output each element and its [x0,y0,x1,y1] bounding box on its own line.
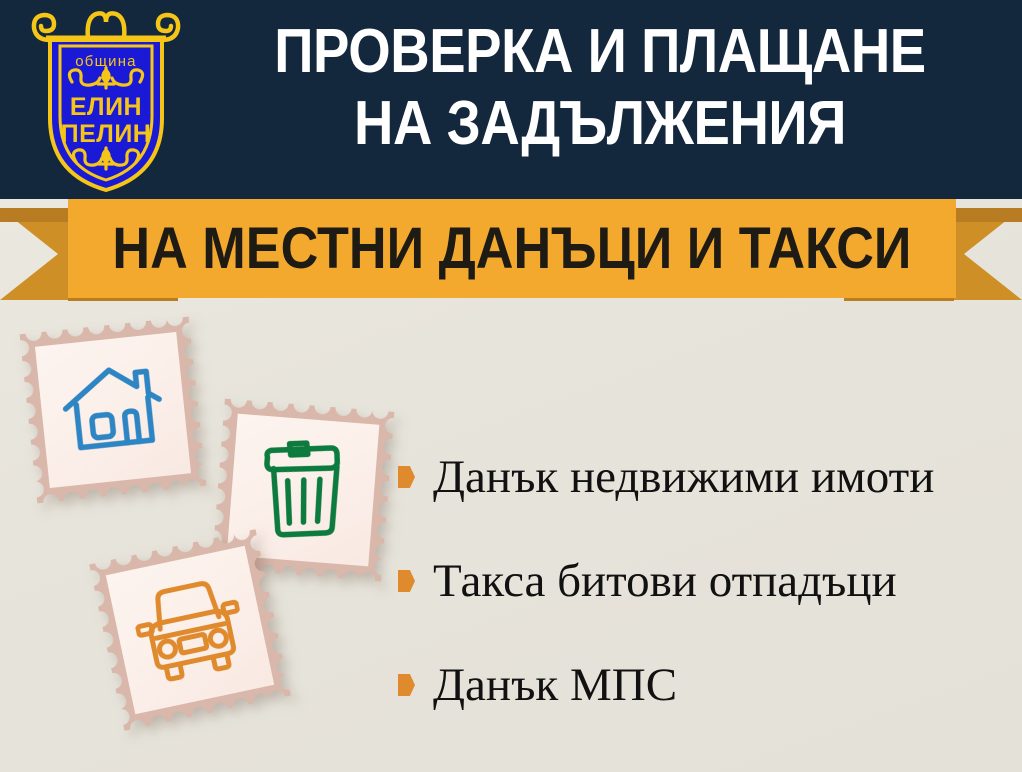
svg-text:ПЕЛИН: ПЕЛИН [61,120,152,148]
svg-text:ЕЛИН: ЕЛИН [70,93,142,121]
ribbon-fold-right [952,208,1022,222]
arrow-bullet-icon [398,674,415,696]
header-banner: община ЕЛИН ПЕЛИН [0,0,1022,199]
list-item-label: Данък МПС [433,659,677,711]
car-icon [128,573,251,687]
arrow-bullet-icon [398,570,415,592]
municipality-logo: община ЕЛИН ПЕЛИН [26,6,186,194]
list-item[interactable]: Данък МПС [398,633,1010,737]
stamp-paper [35,332,191,488]
house-icon [56,359,169,461]
tax-type-list: Данък недвижими имоти Такса битови отпад… [398,425,1010,737]
list-item-label: Такса битови отпадъци [433,555,897,607]
ribbon-subtitle: НА МЕСТНИ ДАНЪЦИ И ТАКСИ [112,219,911,279]
arrow-bullet-icon [398,466,415,488]
crest-icon: община ЕЛИН ПЕЛИН [26,6,186,194]
poster-canvas: община ЕЛИН ПЕЛИН [0,0,1022,772]
list-item[interactable]: Такса битови отпадъци [398,529,1010,633]
ribbon-main-panel: НА МЕСТНИ ДАНЪЦИ И ТАКСИ [68,199,956,298]
trash-bin-icon [255,437,351,544]
page-title: ПРОВЕРКА И ПЛАЩАНЕ НА ЗАДЪЛЖЕНИЯ [239,16,961,160]
stamp-real-estate [9,306,218,515]
list-item[interactable]: Данък недвижими имоти [398,425,1010,529]
ribbon-fold-left [0,208,70,222]
stamp-paper [106,546,274,714]
subtitle-ribbon: НА МЕСТНИ ДАНЪЦИ И ТАКСИ [0,199,1022,309]
list-item-label: Данък недвижими имоти [433,451,934,503]
stamp-vehicle [77,517,302,742]
